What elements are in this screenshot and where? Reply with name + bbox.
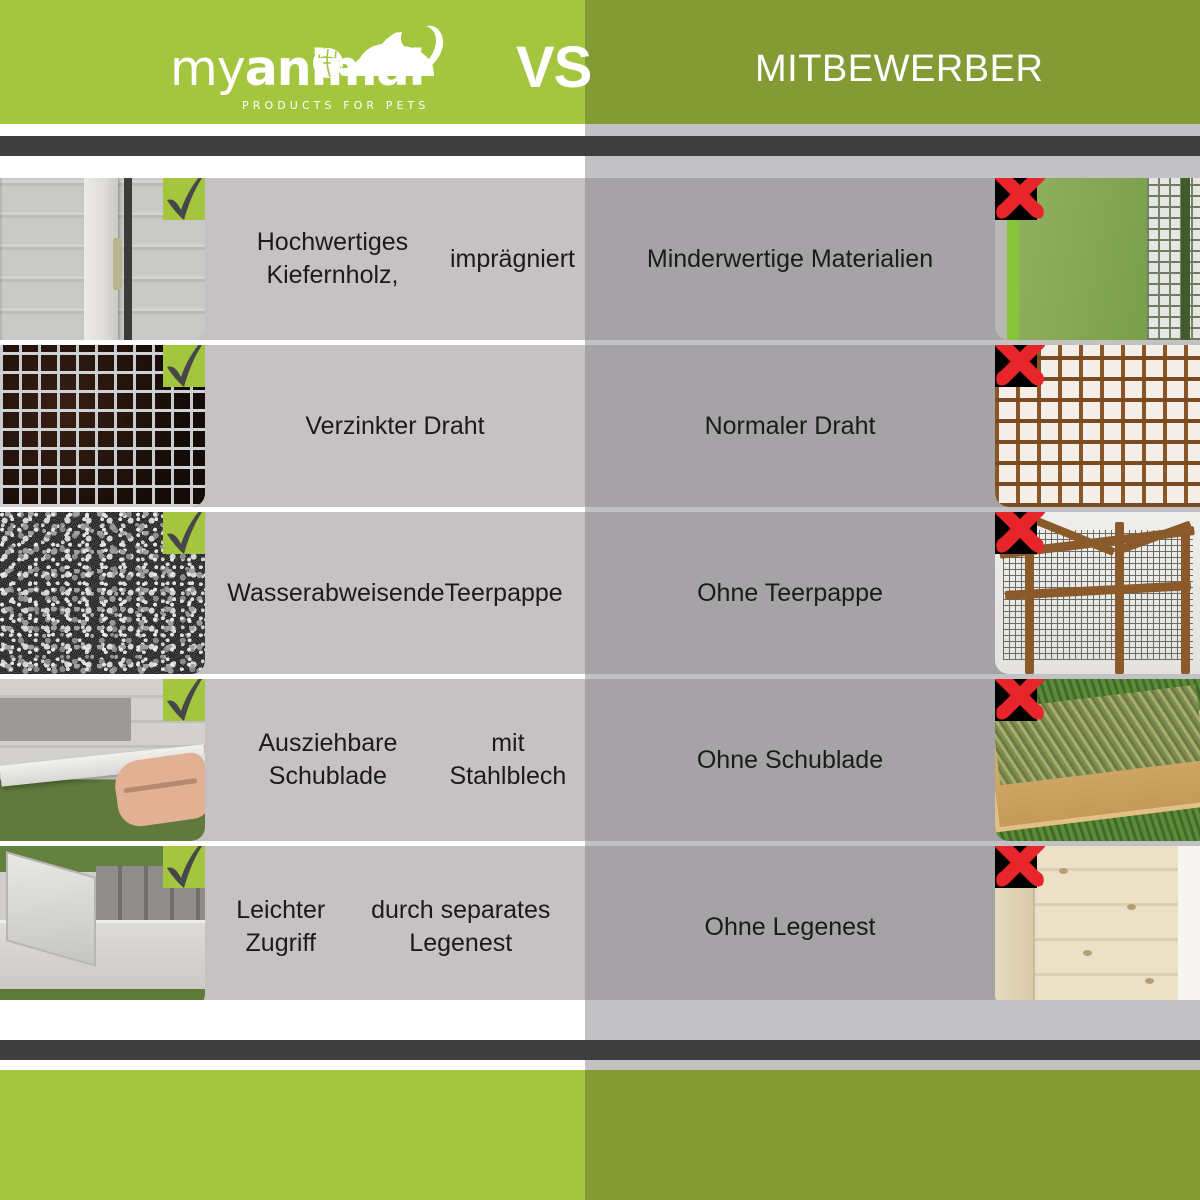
bottom-whitespace-left — [0, 1000, 585, 1040]
plain-pine-wall-photo — [995, 846, 1200, 1008]
header: myanimal PRODUCTS FOR PETS VS MITBEWERBE… — [0, 0, 1200, 124]
comparison-row: Verzinkter DrahtNormaler Draht — [0, 345, 1200, 507]
ours-feature-label: Leichter Zugriffdurch separates Legenest — [205, 846, 585, 1008]
timber-run-no-felt-photo — [995, 512, 1200, 674]
theirs-feature-label: Ohne Teerpappe — [585, 512, 995, 674]
check-icon — [163, 345, 205, 387]
check-icon — [163, 512, 205, 554]
comparison-infographic: myanimal PRODUCTS FOR PETS VS MITBEWERBE… — [0, 0, 1200, 1200]
pull-out-drawer-photo — [0, 679, 205, 841]
theirs-feature-label: Minderwertige Materialien — [585, 178, 995, 340]
theirs-feature-label: Normaler Draht — [585, 345, 995, 507]
comparison-row: WasserabweisendeTeerpappeOhne Teerpappe — [0, 512, 1200, 674]
check-icon — [163, 178, 205, 220]
footer-gap-left — [0, 1060, 585, 1070]
top-divider-bar — [0, 136, 1200, 156]
bitumen-roofing-felt-photo — [0, 512, 205, 674]
ours-feature-label: Ausziehbare Schublademit Stahlblech — [205, 679, 585, 841]
brand-logo: myanimal PRODUCTS FOR PETS — [170, 22, 470, 114]
theirs-feature-label: Ohne Legenest — [585, 846, 995, 1008]
hay-on-frame-photo — [995, 679, 1200, 841]
brand-word-animal: animal — [245, 40, 425, 97]
top-whitespace-right — [585, 156, 1200, 178]
bottom-whitespace-right — [585, 1000, 1200, 1040]
bottom-divider-bar — [0, 1040, 1200, 1060]
check-icon — [163, 846, 205, 888]
cross-icon — [995, 512, 1037, 554]
header-gap-left — [0, 124, 585, 136]
footer-gap-right — [585, 1060, 1200, 1070]
cross-icon — [995, 679, 1037, 721]
open-nest-box-photo — [0, 846, 205, 1008]
cross-icon — [995, 345, 1037, 387]
ours-feature-label: Hochwertiges Kiefernholz,imprägniert — [205, 178, 585, 340]
header-gap-right — [585, 124, 1200, 136]
grey-pine-boards-photo — [0, 178, 205, 340]
check-icon — [163, 679, 205, 721]
galvanised-wire-mesh-photo — [0, 345, 205, 507]
brand-wordmark: myanimal — [170, 44, 470, 93]
comparison-row: Leichter Zugriffdurch separates Legenest… — [0, 846, 1200, 1008]
green-painted-panel-photo — [995, 178, 1200, 340]
footer-competitor-panel — [585, 1070, 1200, 1200]
comparison-row: Ausziehbare Schublademit StahlblechOhne … — [0, 679, 1200, 841]
ours-feature-label: Verzinkter Draht — [205, 345, 585, 507]
cross-icon — [995, 178, 1037, 220]
brand-word-my: my — [170, 40, 245, 97]
top-whitespace-left — [0, 156, 585, 178]
theirs-feature-label: Ohne Schublade — [585, 679, 995, 841]
brand-tagline: PRODUCTS FOR PETS — [242, 99, 472, 112]
vs-label: VS — [516, 34, 591, 101]
comparison-row: Hochwertiges Kiefernholz,imprägniertMind… — [0, 178, 1200, 340]
rusty-wire-mesh-photo — [995, 345, 1200, 507]
footer-brand-panel — [0, 1070, 585, 1200]
cross-icon — [995, 846, 1037, 888]
competitor-title: MITBEWERBER — [755, 48, 1043, 91]
ours-feature-label: WasserabweisendeTeerpappe — [205, 512, 585, 674]
